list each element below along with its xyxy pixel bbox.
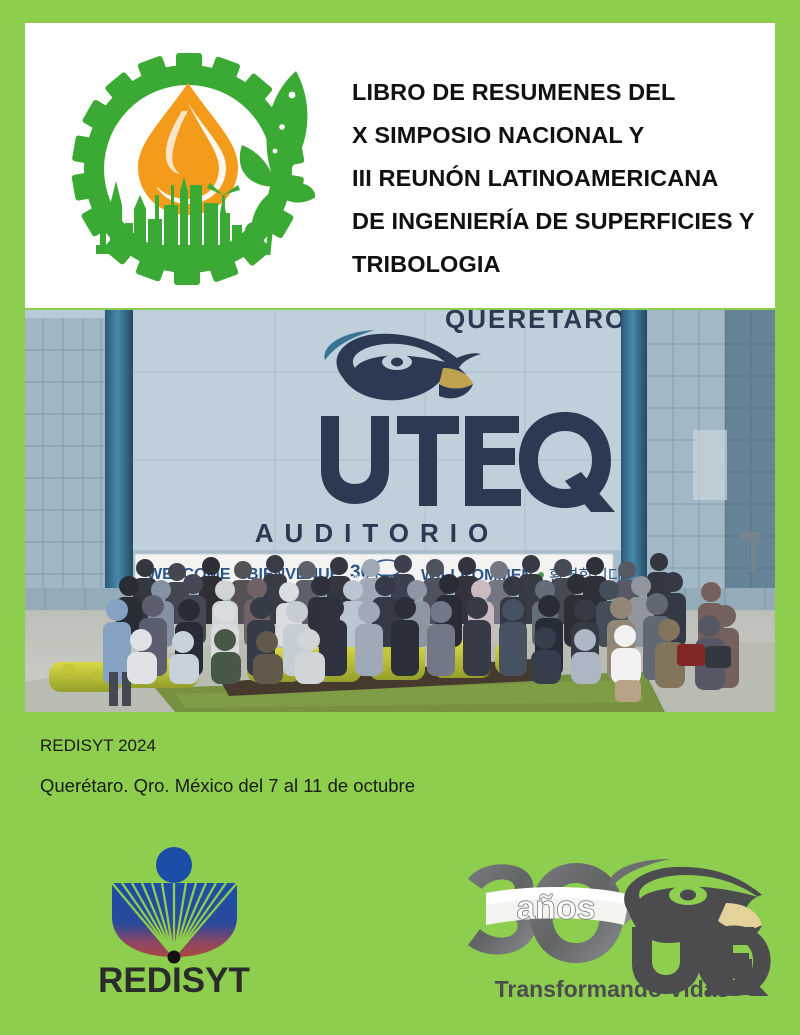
caption-line-2: Querétaro. Qro. México del 7 al 11 de oc… (40, 766, 640, 806)
header-white-panel: LIBRO DE RESUMENES DEL X SIMPOSIO NACION… (25, 23, 775, 308)
redisyt-fan-rays (110, 881, 240, 959)
document-page: { "page": { "background_color": "#8dce4e… (0, 0, 800, 1035)
uteq-tagline: Transformando Vidas (495, 976, 730, 1000)
uteq-30-anos-logo: años (452, 855, 772, 1000)
title-line-4: DE INGENIERÍA DE SUPERFICIES Y (352, 200, 792, 243)
redisyt-event-emblem (70, 45, 315, 290)
page-title: LIBRO DE RESUMENES DEL X SIMPOSIO NACION… (352, 71, 792, 286)
group-photo-uteq-auditorium: QUERÉTARO AUDITORIO (25, 310, 775, 712)
caption-line-1: REDISYT 2024 (40, 726, 640, 766)
redisyt-logo: REDISYT (72, 845, 277, 995)
uteq-anos-ribbon: años (486, 887, 646, 927)
redisyt-circle (156, 847, 192, 883)
title-line-1: LIBRO DE RESUMENES DEL (352, 71, 792, 114)
redisyt-wordmark: REDISYT (98, 961, 250, 995)
caption-block: REDISYT 2024 Querétaro. Qro. México del … (40, 726, 640, 806)
title-line-2: X SIMPOSIO NACIONAL Y (352, 114, 792, 157)
title-line-3: III REUNÓN LATINOAMERICANA (352, 157, 792, 200)
svg-text:años: años (516, 889, 595, 927)
title-line-5: TRIBOLOGIA (352, 243, 792, 286)
